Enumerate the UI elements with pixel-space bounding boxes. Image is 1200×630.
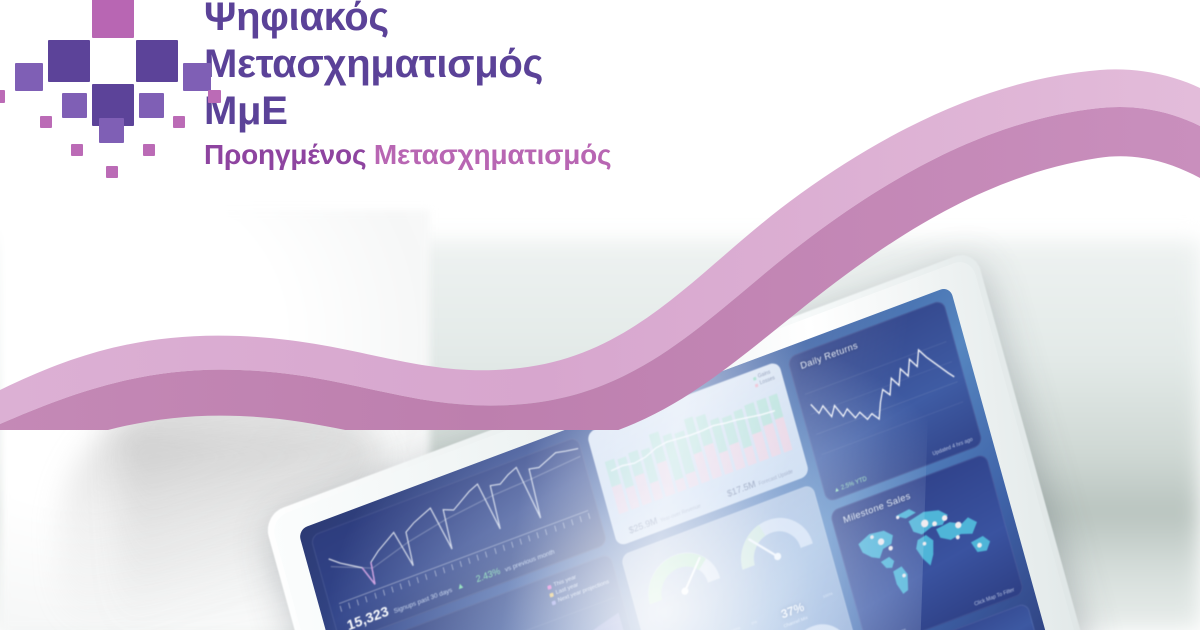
signups-delta: 2.43% xyxy=(475,566,502,585)
signups-value-caption: Signups past 30 days xyxy=(393,587,453,616)
brand-subtitle: Προηγμένος Μετασχηματισμός xyxy=(204,138,611,172)
brand-subtitle-word-2: Μετασχηματισμός xyxy=(374,139,612,170)
digital-transformation-pixel-logo-icon xyxy=(18,0,198,200)
daily-returns-ytd-value: 2.5% YTD xyxy=(841,476,868,491)
gauge-max-label: 100% xyxy=(822,590,833,598)
kpi-right-caption: Forecast Upside xyxy=(758,469,794,488)
daily-returns-ytd: ▲ 2.5% YTD xyxy=(833,476,867,494)
signups-delta-caption: vs previous month xyxy=(504,548,555,573)
kpi-left-caption: Year-over Revenue xyxy=(660,503,702,524)
promo-banner: 15,323 Signups past 30 days ▲ 2.43% vs p… xyxy=(0,0,1200,630)
gauge-max-label: 100% xyxy=(730,625,741,630)
delta-up-arrow: ▲ xyxy=(455,580,465,591)
brand-title-line-1: Ψηφιακός xyxy=(204,0,611,41)
milestone-sales-hint: Click Map To Filter xyxy=(974,587,1015,608)
brand-title-line-2: Μετασχηματισμός xyxy=(204,41,611,88)
brand-text-block: Ψηφιακός Μετασχηματισμός ΜμΕ Προηγμένος … xyxy=(204,0,611,172)
brand-subtitle-word-1: Προηγμένος xyxy=(204,139,366,170)
kpi-right-value: $17.5M xyxy=(726,479,757,499)
gauge-min-label: 0% xyxy=(751,619,758,626)
kpi-left-value: $25.9M xyxy=(628,516,659,536)
brand-lockup: Ψηφιακός Μετασχηματισμός ΜμΕ Προηγμένος … xyxy=(0,0,611,200)
daily-returns-updated: Updated 4 hrs ago xyxy=(932,437,974,458)
brand-title-line-3: ΜμΕ xyxy=(204,88,611,135)
